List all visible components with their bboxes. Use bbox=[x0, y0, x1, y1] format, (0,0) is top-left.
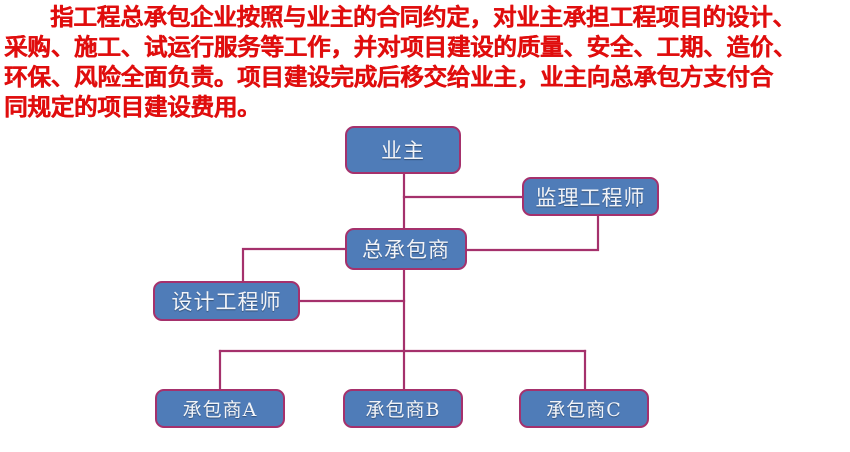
node-contractor-b-label: 承包商B bbox=[366, 395, 441, 422]
node-contractor-c[interactable]: 承包商C bbox=[519, 389, 649, 428]
connector-lines bbox=[0, 0, 850, 452]
node-supervision-engineer-label: 监理工程师 bbox=[536, 182, 646, 212]
node-general-contractor[interactable]: 总承包商 bbox=[345, 228, 467, 270]
node-owner-label: 业主 bbox=[381, 135, 425, 165]
node-design-engineer-label: 设计工程师 bbox=[172, 286, 282, 316]
node-contractor-a[interactable]: 承包商A bbox=[155, 389, 285, 428]
node-owner[interactable]: 业主 bbox=[345, 126, 461, 174]
edge-supervision-engineer-to-general-contractor bbox=[467, 216, 598, 250]
node-contractor-a-label: 承包商A bbox=[183, 395, 258, 422]
node-contractor-b[interactable]: 承包商B bbox=[343, 389, 463, 428]
node-contractor-c-label: 承包商C bbox=[546, 395, 622, 422]
org-chart-diagram: 业主 监理工程师 总承包商 设计工程师 承包商A 承包商B 承包商C bbox=[0, 0, 850, 452]
edge-general-contractor-to-design-engineer bbox=[243, 249, 345, 281]
node-supervision-engineer[interactable]: 监理工程师 bbox=[522, 177, 659, 216]
node-general-contractor-label: 总承包商 bbox=[362, 234, 450, 264]
node-design-engineer[interactable]: 设计工程师 bbox=[153, 281, 300, 321]
